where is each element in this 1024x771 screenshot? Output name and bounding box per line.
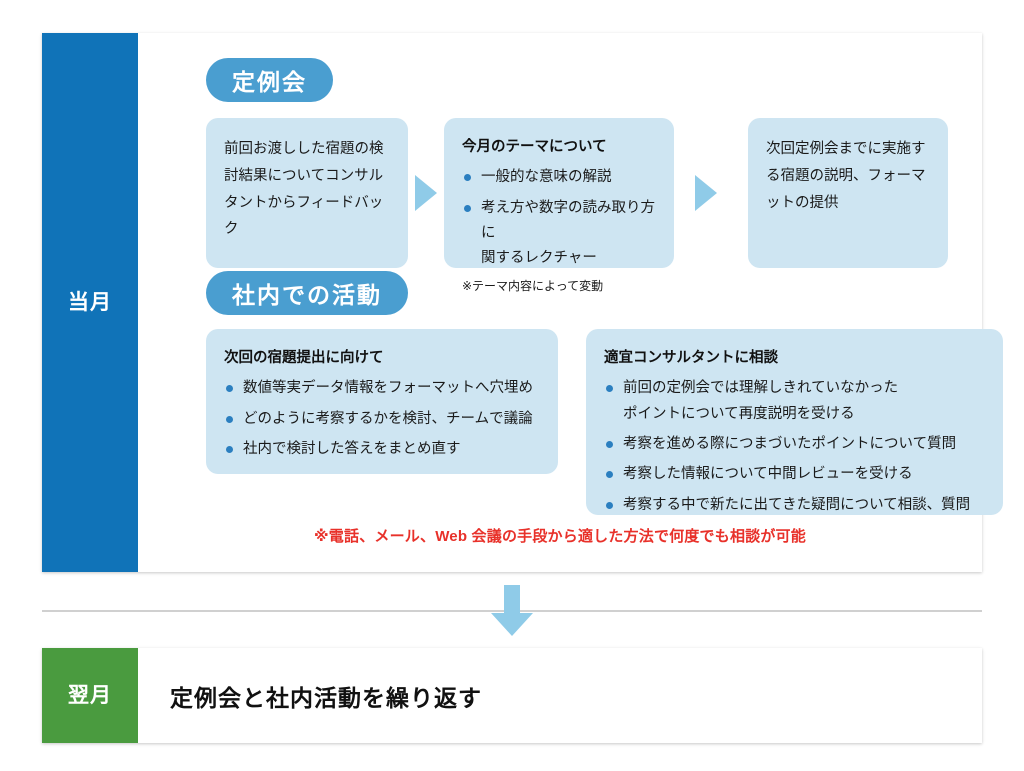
triangle-right-arrow-icon-2 <box>695 175 717 211</box>
card-theme: 今月のテーマについて 一般的な意味の解説 考え方や数字の読み取り方に 関するレク… <box>444 118 674 268</box>
section-pill-shanai: 社内での活動 <box>206 271 408 315</box>
next-month-panel: 翌月 定例会と社内活動を繰り返す <box>42 648 982 743</box>
list-item-line: 前回の定例会では理解しきれていなかった <box>623 376 987 401</box>
card-homework: 次回定例会までに実施する宿題の説明、フォーマットの提供 <box>748 118 948 268</box>
section-pill-teireikai: 定例会 <box>206 58 333 102</box>
card-feedback-text: 前回お渡しした宿題の検討結果についてコンサルタントからフィードバック <box>224 136 392 243</box>
card-consult: 適宜コンサルタントに相談 前回の定例会では理解しきれていなかった ポイントについ… <box>586 329 1003 515</box>
list-item: 考察を進める際につまづいたポイントについて質問 <box>604 432 987 457</box>
process-diagram: 当月 定例会 前回お渡しした宿題の検討結果についてコンサルタントからフィードバッ… <box>0 0 1024 771</box>
list-item: 数値等実データ情報をフォーマットへ穴埋め <box>224 376 542 401</box>
next-month-tab: 翌月 <box>42 648 138 743</box>
current-month-body: 定例会 前回お渡しした宿題の検討結果についてコンサルタントからフィードバック 今… <box>138 33 982 572</box>
current-month-tab: 当月 <box>42 33 138 572</box>
card-homework-text: 次回定例会までに実施する宿題の説明、フォーマットの提供 <box>766 136 932 216</box>
down-arrow-icon <box>487 585 537 637</box>
list-item-line: 関するレクチャー <box>481 246 658 271</box>
card-theme-heading: 今月のテーマについて <box>462 136 658 159</box>
current-month-tab-label: 当月 <box>68 292 112 313</box>
list-item-line: 考え方や数字の読み取り方に <box>481 196 658 247</box>
section-pill-shanai-label: 社内での活動 <box>232 276 382 310</box>
list-item-line: 考察した情報について中間レビューを受ける <box>623 462 987 487</box>
card-theme-bullet-list: 一般的な意味の解説 考え方や数字の読み取り方に 関するレクチャー <box>462 165 658 272</box>
next-month-text: 定例会と社内活動を繰り返す <box>170 648 482 743</box>
list-item-line: ポイントについて再度説明を受ける <box>623 402 987 427</box>
list-item: 考え方や数字の読み取り方に 関するレクチャー <box>462 196 658 272</box>
card-next-homework-heading: 次回の宿題提出に向けて <box>224 347 542 370</box>
section-pill-teireikai-label: 定例会 <box>232 63 307 97</box>
card-next-homework-bullet-list: 数値等実データ情報をフォーマットへ穴埋め どのように考察するかを検討、チームで議… <box>224 376 542 462</box>
list-item-line: 考察を進める際につまづいたポイントについて質問 <box>623 432 987 457</box>
list-item: 前回の定例会では理解しきれていなかった ポイントについて再度説明を受ける <box>604 376 987 427</box>
list-item-line: 考察する中で新たに出てきた疑問について相談、質問 <box>623 493 987 518</box>
list-item-line: 数値等実データ情報をフォーマットへ穴埋め <box>243 376 542 401</box>
card-consult-heading: 適宜コンサルタントに相談 <box>604 347 987 370</box>
card-theme-note: ※テーマ内容によって変動 <box>462 277 658 296</box>
red-note-text: ※電話、メール、Web 会議の手段から適した方法で何度でも相談が可能 <box>138 525 982 546</box>
card-feedback: 前回お渡しした宿題の検討結果についてコンサルタントからフィードバック <box>206 118 408 268</box>
list-item: 一般的な意味の解説 <box>462 165 658 190</box>
triangle-right-arrow-icon-1 <box>415 175 437 211</box>
current-month-panel: 当月 定例会 前回お渡しした宿題の検討結果についてコンサルタントからフィードバッ… <box>42 33 982 572</box>
list-item-line: 一般的な意味の解説 <box>481 165 658 190</box>
next-month-tab-label: 翌月 <box>68 685 112 706</box>
list-item: 考察する中で新たに出てきた疑問について相談、質問 <box>604 493 987 518</box>
list-item: 考察した情報について中間レビューを受ける <box>604 462 987 487</box>
list-item-line: どのように考察するかを検討、チームで議論 <box>243 407 542 432</box>
card-next-homework: 次回の宿題提出に向けて 数値等実データ情報をフォーマットへ穴埋め どのように考察… <box>206 329 558 474</box>
list-item: どのように考察するかを検討、チームで議論 <box>224 407 542 432</box>
card-consult-bullet-list: 前回の定例会では理解しきれていなかった ポイントについて再度説明を受ける 考察を… <box>604 376 987 518</box>
list-item: 社内で検討した答えをまとめ直す <box>224 437 542 462</box>
list-item-line: 社内で検討した答えをまとめ直す <box>243 437 542 462</box>
